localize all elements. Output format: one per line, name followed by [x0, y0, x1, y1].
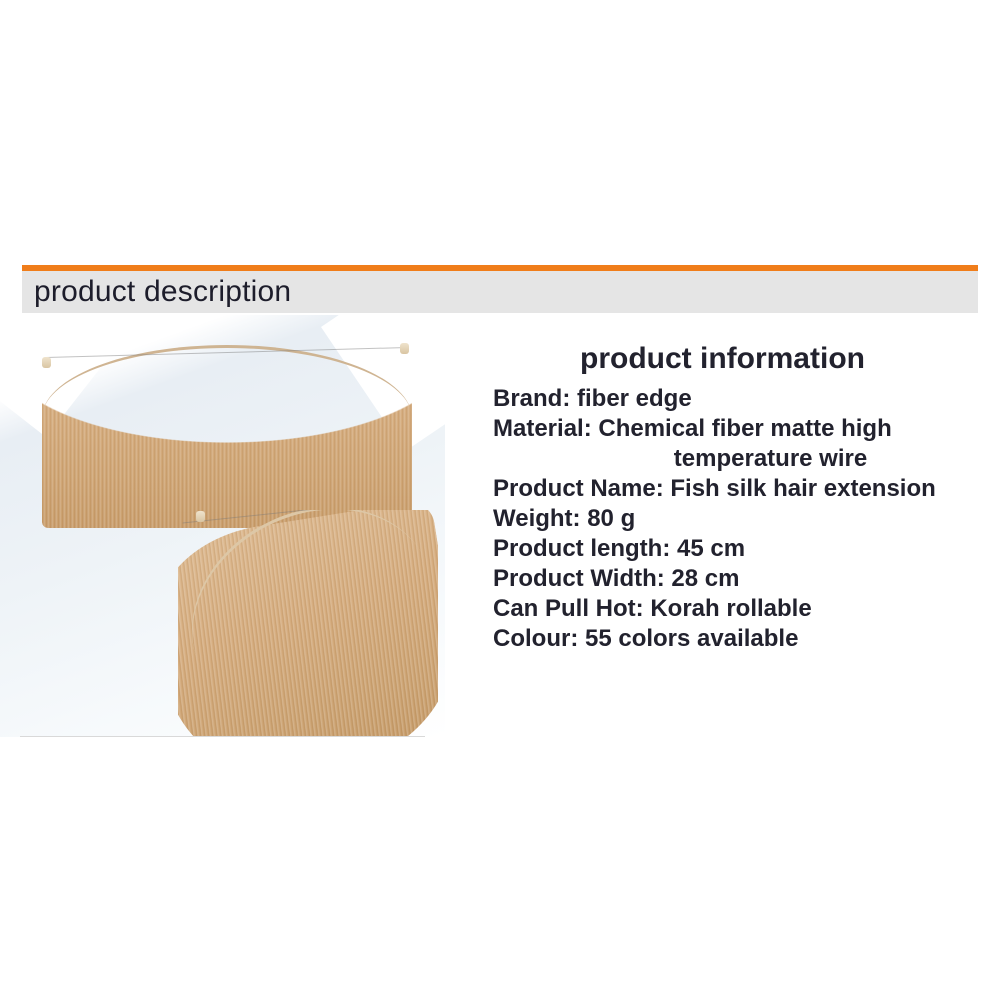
- product-information-list: Brand: fiber edgeMaterial: Chemical fibe…: [493, 384, 988, 654]
- product-information-title: product information: [493, 340, 988, 378]
- product-info-line: Brand: fiber edge: [493, 384, 988, 414]
- wire-bead-right-icon: [400, 343, 409, 354]
- photo-bottom-divider: [20, 736, 425, 737]
- wire-bead-left-icon: [42, 357, 51, 368]
- product-info-line: Weight: 80 g: [493, 504, 988, 534]
- product-info-line: temperature wire: [493, 444, 988, 474]
- product-info-line: Product Width: 28 cm: [493, 564, 988, 594]
- product-info-line: Material: Chemical fiber matte high: [493, 414, 988, 444]
- page-title: product description: [34, 272, 291, 312]
- product-info-line: Can Pull Hot: Korah rollable: [493, 594, 988, 624]
- section-header: product description: [22, 265, 978, 313]
- wire-bead-lower-icon: [196, 511, 205, 522]
- product-info-line: Product Name: Fish silk hair extension: [493, 474, 988, 504]
- product-photo: 28cm 45cm: [0, 315, 445, 737]
- product-info-line: Product length: 45 cm: [493, 534, 988, 564]
- hair-weft-lower-group: [178, 510, 438, 737]
- product-information-panel: product information Brand: fiber edgeMat…: [493, 340, 988, 654]
- product-info-line: Colour: 55 colors available: [493, 624, 988, 654]
